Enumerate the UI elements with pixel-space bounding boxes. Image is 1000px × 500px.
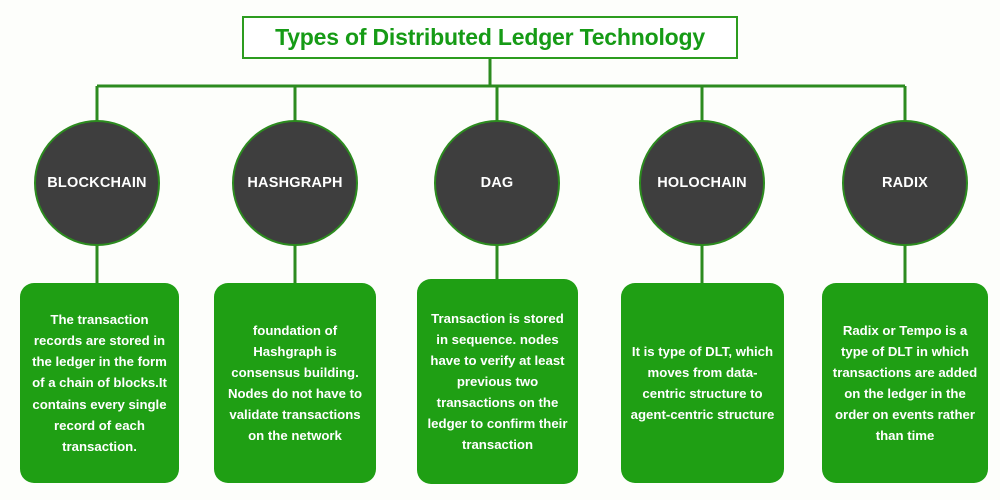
node-label-blockchain: BLOCKCHAIN	[47, 175, 146, 191]
node-circle-radix[interactable]: RADIX	[842, 120, 968, 246]
node-circle-blockchain[interactable]: BLOCKCHAIN	[34, 120, 160, 246]
description-text-dag: Transaction is stored in sequence. nodes…	[425, 308, 570, 456]
node-label-radix: RADIX	[882, 175, 928, 191]
node-label-holochain: HOLOCHAIN	[657, 175, 747, 191]
page-title: Types of Distributed Ledger Technology	[275, 24, 705, 51]
node-circle-dag[interactable]: DAG	[434, 120, 560, 246]
node-label-hashgraph: HASHGRAPH	[247, 175, 342, 191]
description-box-blockchain: The transaction records are stored in th…	[20, 283, 179, 483]
description-text-radix: Radix or Tempo is a type of DLT in which…	[830, 320, 980, 447]
description-text-hashgraph: foundation of Hashgraph is consensus bui…	[222, 320, 368, 447]
node-label-dag: DAG	[481, 175, 514, 191]
description-text-holochain: It is type of DLT, which moves from data…	[629, 341, 776, 426]
diagram-title-box: Types of Distributed Ledger Technology	[242, 16, 738, 59]
description-box-radix: Radix or Tempo is a type of DLT in which…	[822, 283, 988, 483]
node-circle-holochain[interactable]: HOLOCHAIN	[639, 120, 765, 246]
description-box-hashgraph: foundation of Hashgraph is consensus bui…	[214, 283, 376, 483]
infographic-canvas: Types of Distributed Ledger Technology B…	[0, 0, 1000, 500]
description-text-blockchain: The transaction records are stored in th…	[28, 309, 171, 457]
node-circle-hashgraph[interactable]: HASHGRAPH	[232, 120, 358, 246]
description-box-holochain: It is type of DLT, which moves from data…	[621, 283, 784, 483]
description-box-dag: Transaction is stored in sequence. nodes…	[417, 279, 578, 484]
